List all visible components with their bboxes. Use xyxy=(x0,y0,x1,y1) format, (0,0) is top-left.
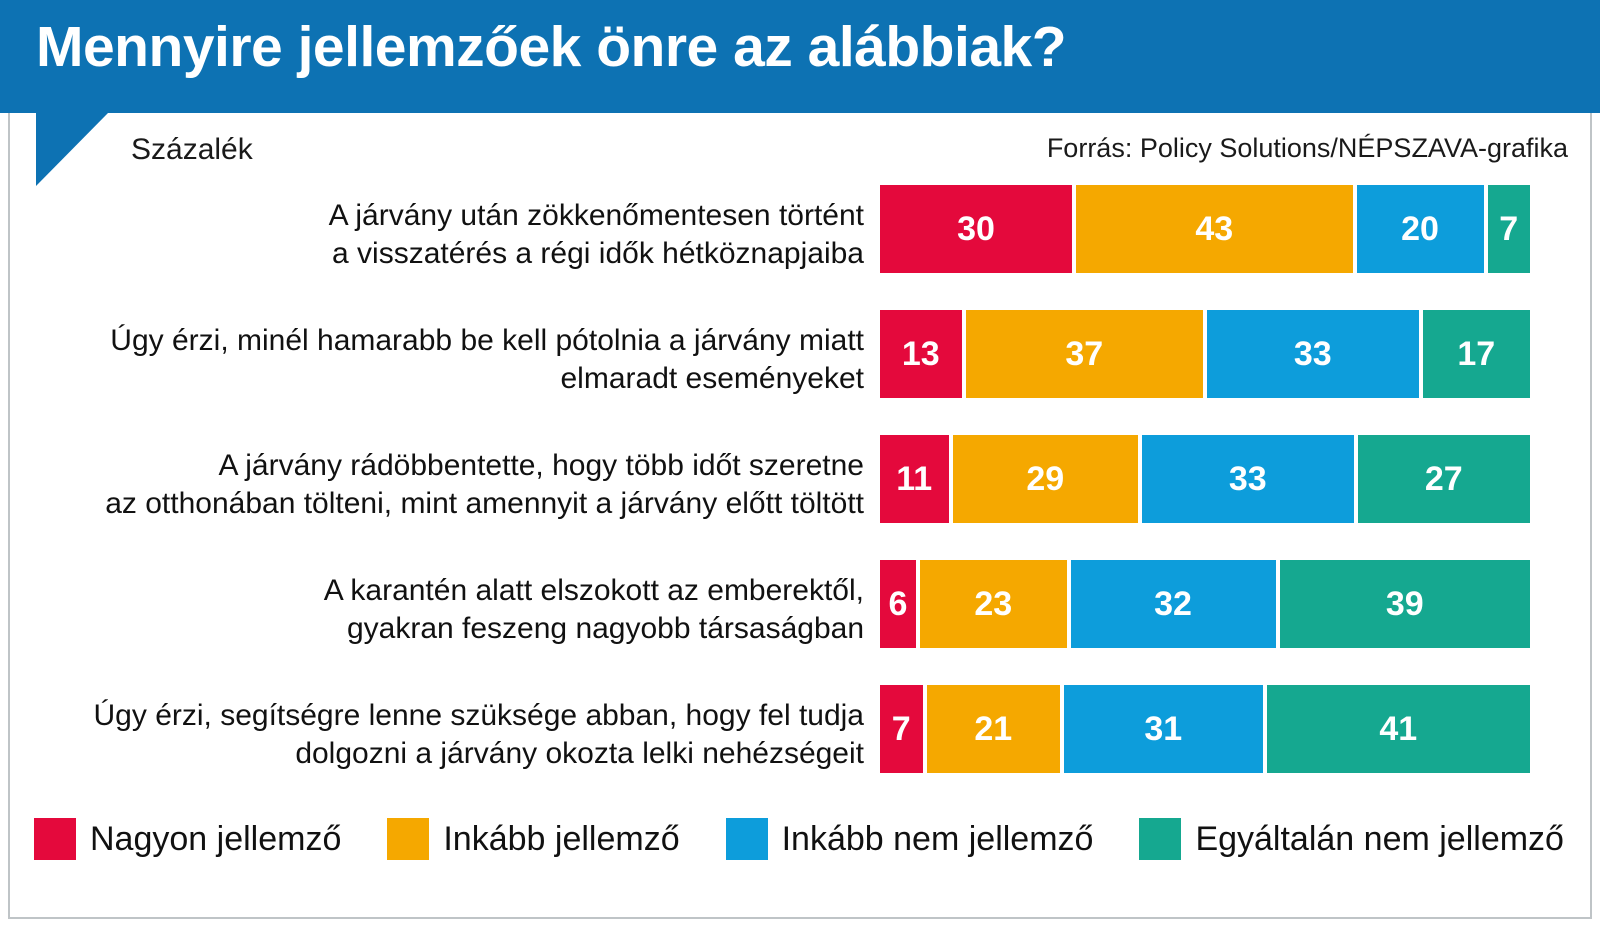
bar-segment: 33 xyxy=(1207,310,1419,398)
bar-segment: 17 xyxy=(1423,310,1531,398)
chart-row: Úgy érzi, minél hamarabb be kell pótolni… xyxy=(0,310,1600,435)
stacked-bar: 3043207 xyxy=(880,185,1530,273)
bar-segment: 7 xyxy=(1488,185,1531,273)
chart-legend: Nagyon jellemzőInkább jellemzőInkább nem… xyxy=(34,818,1574,860)
chart-row-label: A járvány után zökkenőmentesen történt a… xyxy=(0,185,880,273)
chart-row-label: A karantén alatt elszokott az emberektől… xyxy=(0,560,880,648)
bar-segment: 29 xyxy=(953,435,1139,523)
bar-segment: 32 xyxy=(1071,560,1276,648)
chart-rows: A járvány után zökkenőmentesen történt a… xyxy=(0,185,1600,810)
bar-segment: 23 xyxy=(920,560,1067,648)
bar-segment: 31 xyxy=(1064,685,1263,773)
header-band: Mennyire jellemzőek önre az alábbiak? xyxy=(0,0,1600,113)
stacked-bar: 6233239 xyxy=(880,560,1530,648)
stacked-bar: 11293327 xyxy=(880,435,1530,523)
stacked-bar: 13373317 xyxy=(880,310,1530,398)
page-title: Mennyire jellemzőek önre az alábbiak? xyxy=(36,14,1066,80)
bar-segment: 27 xyxy=(1358,435,1531,523)
axis-unit-label: Százalék xyxy=(131,133,253,167)
stacked-bar: 7213141 xyxy=(880,685,1530,773)
bar-segment: 41 xyxy=(1267,685,1531,773)
source-attribution: Forrás: Policy Solutions/NÉPSZAVA-grafik… xyxy=(1047,133,1568,164)
chart-row: A járvány rádöbbentette, hogy több időt … xyxy=(0,435,1600,560)
legend-item[interactable]: Nagyon jellemző xyxy=(34,818,341,860)
legend-item-label: Inkább jellemző xyxy=(443,820,679,859)
chart-row: A járvány után zökkenőmentesen történt a… xyxy=(0,185,1600,310)
legend-swatch-icon xyxy=(1139,818,1181,860)
bar-segment: 39 xyxy=(1280,560,1530,648)
chart-row-label: Úgy érzi, minél hamarabb be kell pótolni… xyxy=(0,310,880,398)
chart-row-label: Úgy érzi, segítségre lenne szüksége abba… xyxy=(0,685,880,773)
legend-item[interactable]: Inkább nem jellemző xyxy=(726,818,1094,860)
legend-swatch-icon xyxy=(726,818,768,860)
legend-item[interactable]: Egyáltalán nem jellemző xyxy=(1139,818,1564,860)
legend-item[interactable]: Inkább jellemző xyxy=(387,818,679,860)
bar-segment: 43 xyxy=(1076,185,1353,273)
bar-segment: 21 xyxy=(927,685,1061,773)
legend-item-label: Inkább nem jellemző xyxy=(782,820,1094,859)
legend-item-label: Egyáltalán nem jellemző xyxy=(1195,820,1564,859)
chart-row-label: A járvány rádöbbentette, hogy több időt … xyxy=(0,435,880,523)
bar-segment: 37 xyxy=(966,310,1204,398)
bar-segment: 7 xyxy=(880,685,923,773)
bar-segment: 20 xyxy=(1357,185,1484,273)
legend-item-label: Nagyon jellemző xyxy=(90,820,341,859)
bar-segment: 33 xyxy=(1142,435,1354,523)
bar-segment: 13 xyxy=(880,310,962,398)
bar-segment: 6 xyxy=(880,560,916,648)
chart-row: Úgy érzi, segítségre lenne szüksége abba… xyxy=(0,685,1600,810)
bar-segment: 30 xyxy=(880,185,1072,273)
bar-segment: 11 xyxy=(880,435,949,523)
infographic-root: Mennyire jellemzőek önre az alábbiak? Sz… xyxy=(0,0,1600,927)
chart-row: A karantén alatt elszokott az emberektől… xyxy=(0,560,1600,685)
legend-swatch-icon xyxy=(34,818,76,860)
legend-swatch-icon xyxy=(387,818,429,860)
